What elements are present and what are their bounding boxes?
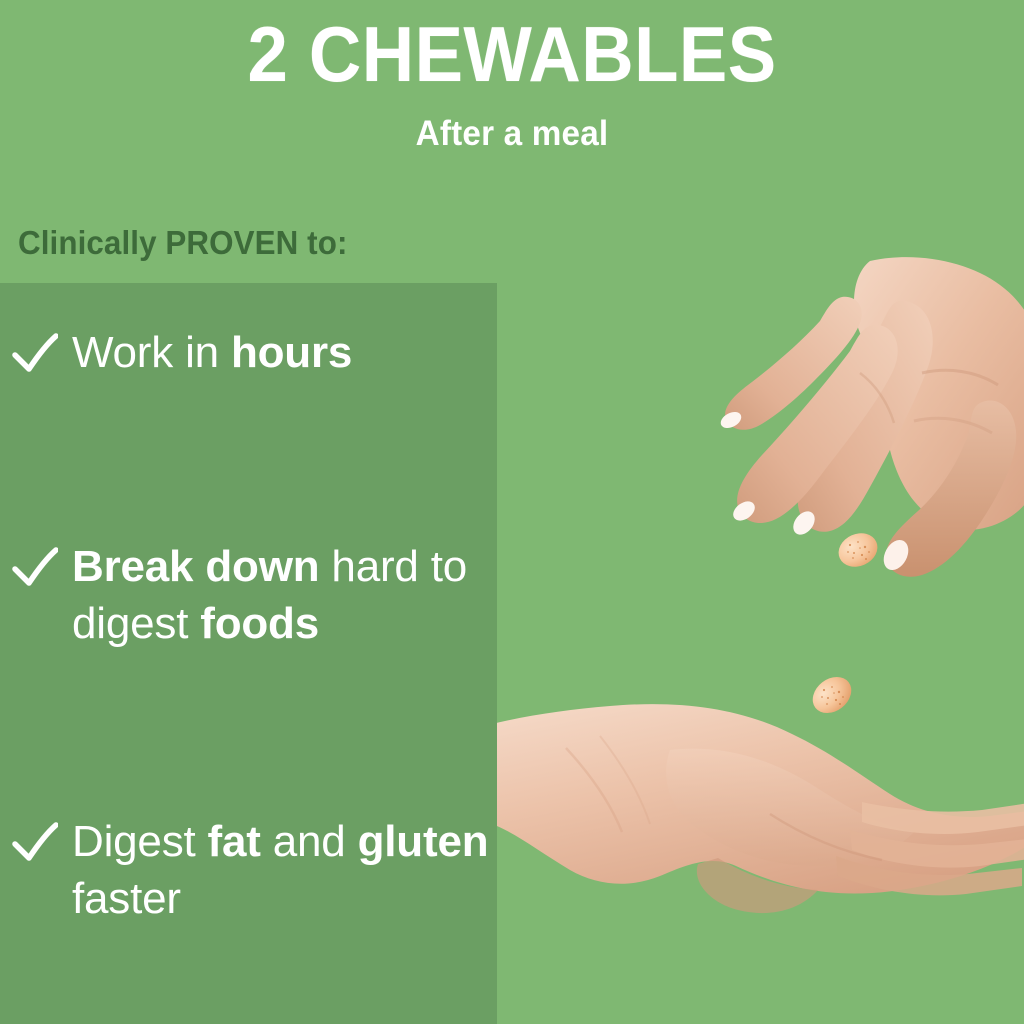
check-icon [12, 542, 58, 592]
list-item: Break down hard to digest foods [12, 538, 492, 652]
benefit-text-1: Break down hard to digest foods [72, 538, 492, 652]
list-item: Digest fat and gluten faster [12, 813, 492, 927]
benefit-text-2: Digest fat and gluten faster [72, 813, 492, 927]
check-icon [12, 328, 58, 378]
benefits-list: Work in hours Break down hard to digest … [0, 283, 497, 1024]
benefit-text-0: Work in hours [72, 324, 352, 381]
clinically-proven-kicker: Clinically PROVEN to: [18, 224, 347, 262]
list-item: Work in hours [12, 324, 492, 381]
check-icon [12, 817, 58, 867]
promo-graphic: 2 CHEWABLES After a meal Clinically PROV… [0, 0, 1024, 1024]
